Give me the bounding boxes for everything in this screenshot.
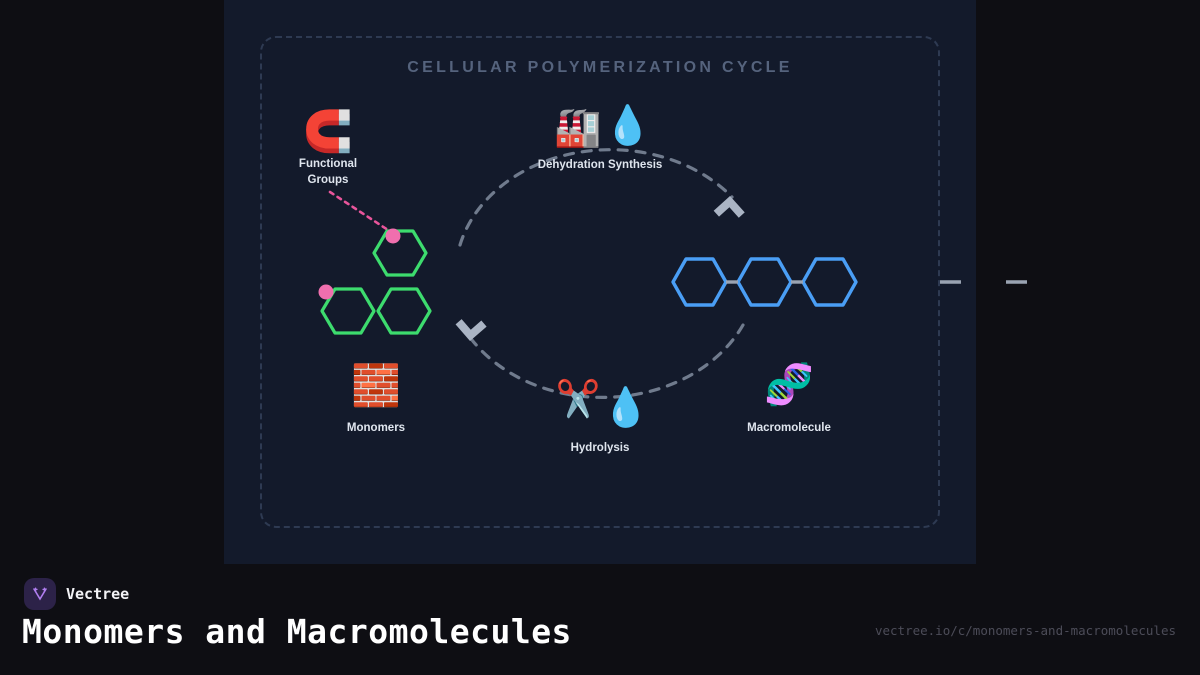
functional-group-dot-top — [386, 229, 401, 244]
slide-stage: CELLULAR POLYMERIZATION CYCLE — [224, 0, 976, 564]
macromolecule-label: Macromolecule — [729, 421, 849, 436]
monomers-label: Monomers — [324, 421, 428, 436]
water-drop-icon-top: 💧 — [604, 106, 652, 144]
polymer-hexagon-3 — [803, 259, 856, 305]
hydrolysis-label: Hydrolysis — [540, 441, 660, 456]
brick-icon: 🧱 — [350, 366, 402, 406]
deck-title: Monomers and Macromolecules — [22, 612, 572, 651]
brand-row: Vectree — [24, 578, 129, 610]
cycle-arrow-head-left — [456, 310, 487, 341]
diagram-vector-layer — [224, 0, 976, 564]
vectree-glyph-icon — [30, 584, 50, 604]
deck-url: vectree.io/c/monomers-and-macromolecules — [875, 623, 1176, 638]
monomer-hexagon-bottom-right — [378, 289, 430, 333]
functional-group-connector — [330, 192, 388, 230]
magnet-icon: 🧲 — [294, 112, 362, 152]
cycle-arrow-head-right — [714, 196, 745, 227]
scissors-icon: ✂️ — [554, 382, 602, 418]
functional-groups-label-line2: Groups — [278, 173, 378, 188]
brand-name: Vectree — [66, 585, 129, 603]
functional-groups-label-line1: Functional — [278, 157, 378, 172]
polymer-hexagon-1 — [673, 259, 726, 305]
factory-icon: 🏭 — [554, 108, 602, 146]
vectree-logo-icon — [24, 578, 56, 610]
dna-icon: 🧬 — [764, 365, 814, 405]
functional-group-dot-bottom-left — [319, 285, 334, 300]
dehydration-synthesis-label: Dehydration Synthesis — [520, 158, 680, 173]
water-drop-icon-bottom: 💧 — [602, 388, 650, 426]
polymer-hexagon-2 — [738, 259, 791, 305]
footer: Vectree Monomers and Macromolecules — [0, 564, 1200, 675]
